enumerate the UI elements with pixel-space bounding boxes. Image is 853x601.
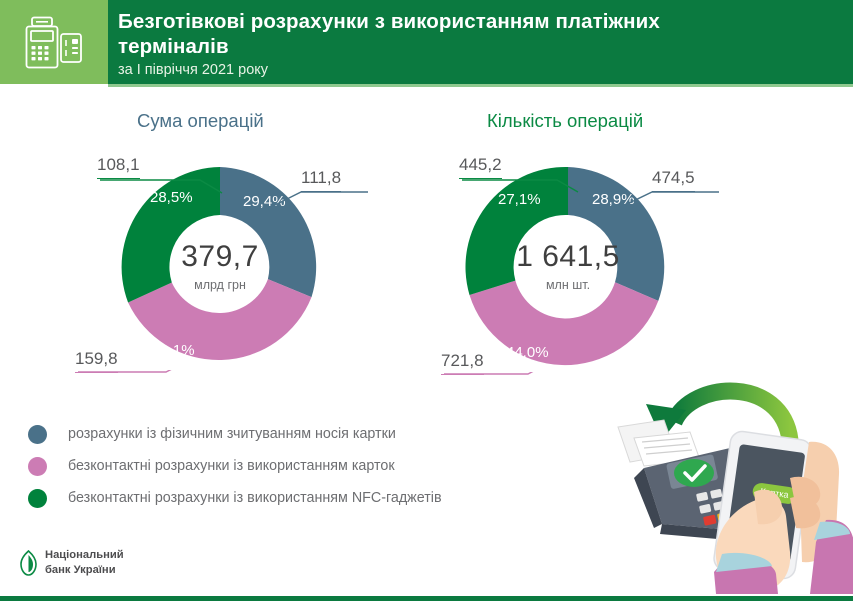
donut-sum-pct-blue: 29,4%: [243, 193, 286, 210]
footer-logo-line2: банк України: [45, 563, 124, 578]
header-text-block: Безготівкові розрахунки з використанням …: [108, 0, 853, 84]
footer-bar: [0, 596, 853, 601]
page-subtitle: за I півріччя 2021 року: [118, 62, 853, 79]
donut-chart-count: 1 641,5 млн шт.: [463, 162, 673, 372]
donut-count-slice-green[interactable]: [465, 167, 568, 295]
donut-count-label-blue: 474,5: [652, 168, 695, 192]
donut-count-label-green: 445,2: [459, 155, 502, 179]
donut-sum-pct-pink: 42,1%: [152, 342, 195, 359]
legend-label-physical-read: розрахунки із фізичним зчитуванням носія…: [68, 426, 396, 442]
donut-sum-label-pink: 159,8: [75, 349, 118, 373]
donut-count-pct-pink: 44,0%: [506, 344, 549, 361]
header-icon-box: [0, 0, 108, 84]
footer-logo-text: Національний банк України: [45, 548, 124, 578]
legend-item-contactless-cards[interactable]: безконтактні розрахунки із використанням…: [28, 450, 588, 482]
legend-label-contactless-cards: безконтактні розрахунки із використанням…: [68, 458, 395, 474]
donut-count-slice-blue[interactable]: [568, 167, 664, 301]
footer-logo: Національний банк України: [20, 548, 124, 578]
page-header: Безготівкові розрахунки з використанням …: [0, 0, 853, 84]
donut-sum-pct-green: 28,5%: [150, 189, 193, 206]
donut-count-svg: [463, 162, 673, 372]
nbu-logo-icon: [20, 550, 37, 576]
legend-label-nfc-gadgets: безконтактні розрахунки із використанням…: [68, 490, 442, 506]
donut-count-pct-green: 27,1%: [498, 191, 541, 208]
donut-chart-sum: 379,7 млрд грн: [115, 162, 325, 372]
legend: розрахунки із фізичним зчитуванням носія…: [28, 418, 588, 514]
header-underline: [108, 84, 853, 87]
chart-title-sum: Сума операцій: [137, 110, 264, 132]
page-title: Безготівкові розрахунки з використанням …: [118, 9, 678, 59]
pos-terminal-card-icon: [23, 14, 85, 70]
donut-sum-label-blue: 111,8: [301, 168, 341, 192]
donut-count-pct-blue: 28,9%: [592, 191, 635, 208]
donut-count-label-pink: 721,8: [441, 351, 484, 375]
legend-item-physical-read[interactable]: розрахунки із фізичним зчитуванням носія…: [28, 418, 588, 450]
legend-dot-pink: [28, 457, 47, 476]
donut-count-slice-pink[interactable]: [470, 281, 659, 366]
donut-sum-svg: [115, 162, 325, 372]
illustration-svg: Картка: [604, 382, 853, 594]
footer-logo-line1: Національний: [45, 548, 124, 563]
legend-dot-green: [28, 489, 47, 508]
nfc-phone-payment-terminal-illustration: Картка: [604, 382, 853, 594]
legend-dot-blue: [28, 425, 47, 444]
chart-title-count: Кількість операцій: [487, 110, 643, 132]
legend-item-nfc-gadgets[interactable]: безконтактні розрахунки із використанням…: [28, 482, 588, 514]
donut-sum-slice-green[interactable]: [122, 167, 220, 303]
donut-sum-label-green: 108,1: [97, 155, 140, 179]
